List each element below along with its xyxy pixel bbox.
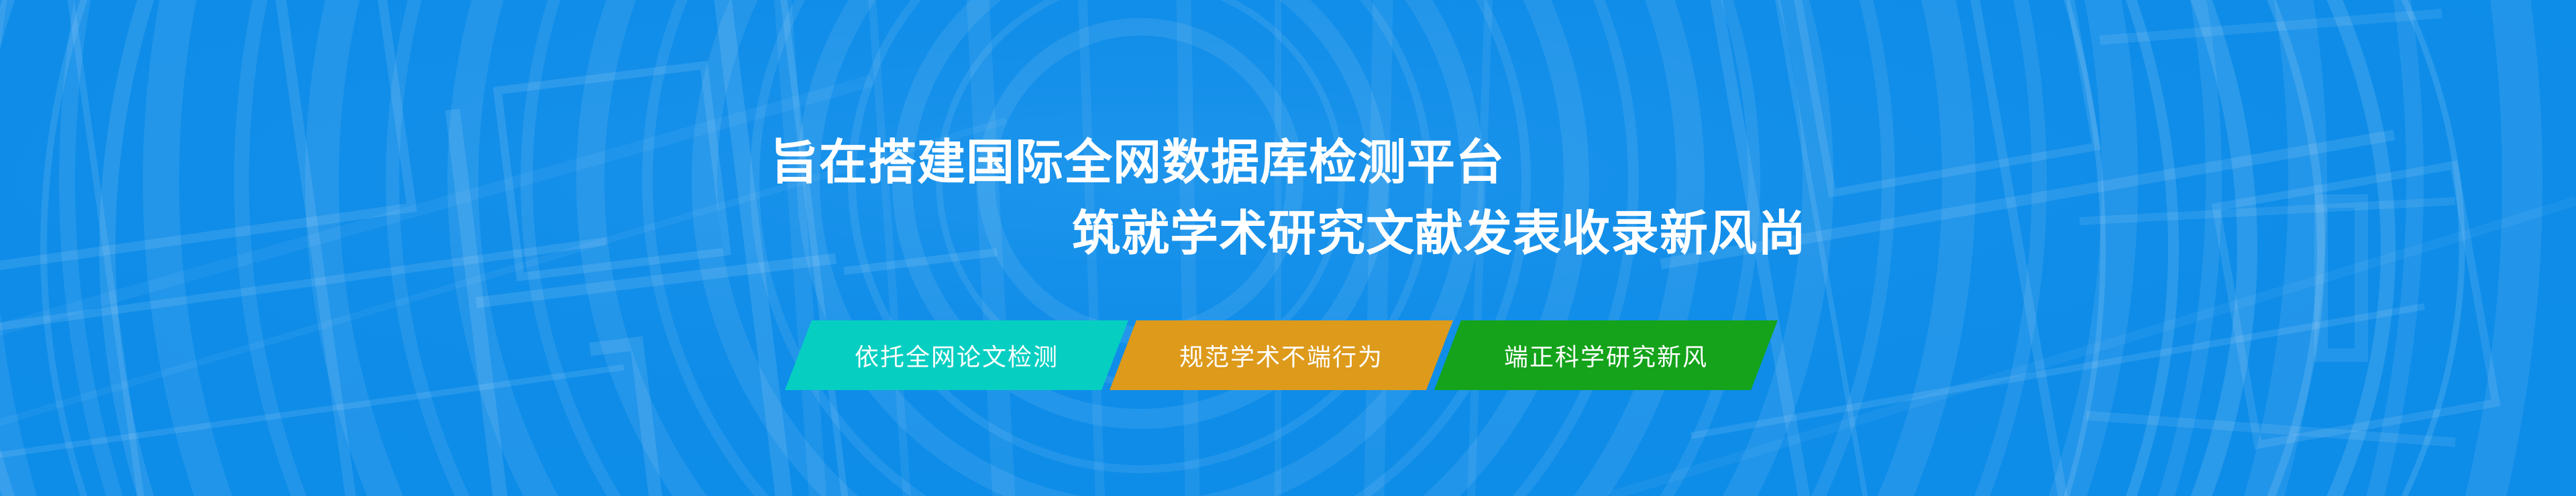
feature-tag-research-ethos-label: 端正科学研究新风 — [1504, 338, 1708, 373]
banner-content: 旨在搭建国际全网数据库检测平台 筑就学术研究文献发表收录新风尚 依托全网论文检测… — [0, 0, 2576, 496]
promo-banner: 旨在搭建国际全网数据库检测平台 筑就学术研究文献发表收录新风尚 依托全网论文检测… — [0, 0, 2576, 496]
headline-line-2: 筑就学术研究文献发表收录新风尚 — [0, 198, 2576, 269]
headline: 旨在搭建国际全网数据库检测平台 筑就学术研究文献发表收录新风尚 — [0, 127, 2576, 269]
feature-tag-strip: 依托全网论文检测 规范学术不端行为 端正科学研究新风 — [771, 320, 1818, 390]
feature-tag-detection-label: 依托全网论文检测 — [855, 338, 1059, 373]
feature-tag-misconduct[interactable]: 规范学术不端行为 — [1110, 320, 1453, 390]
feature-tag-detection[interactable]: 依托全网论文检测 — [785, 320, 1128, 390]
headline-line-1: 旨在搭建国际全网数据库检测平台 — [0, 127, 2576, 198]
feature-tag-research-ethos[interactable]: 端正科学研究新风 — [1434, 320, 1778, 390]
feature-tag-misconduct-label: 规范学术不端行为 — [1179, 338, 1383, 373]
